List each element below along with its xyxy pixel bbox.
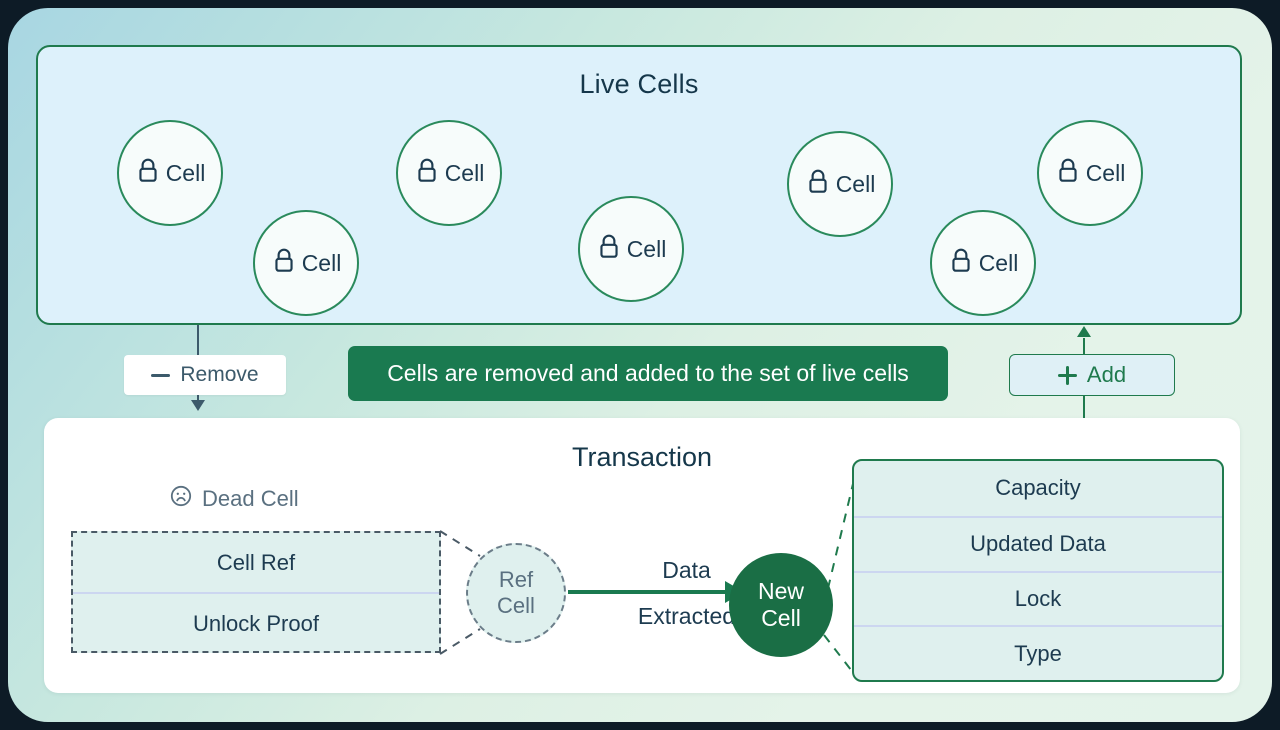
field-row: Capacity (854, 461, 1222, 516)
data-extracted-arrow-line (568, 590, 728, 594)
dead-cell-box: Cell Ref Unlock Proof (71, 531, 441, 653)
live-cell[interactable]: Cell (578, 196, 684, 302)
dead-cell-row: Cell Ref (73, 533, 439, 592)
live-cell-label: Cell (979, 250, 1019, 277)
live-cell-label: Cell (166, 160, 206, 187)
new-cell-line2: Cell (761, 605, 801, 632)
sad-face-icon (169, 484, 193, 514)
live-cell-label: Cell (627, 236, 667, 263)
add-button[interactable]: Add (1009, 354, 1175, 396)
live-cells-title: Live Cells (38, 69, 1240, 100)
minus-icon (151, 374, 170, 377)
new-cell-fields-panel: Capacity Updated Data Lock Type (852, 459, 1224, 682)
remove-button[interactable]: Remove (124, 355, 286, 395)
diagram-canvas: Live Cells Cell Cell (8, 8, 1272, 722)
ref-cell-line2: Cell (497, 593, 535, 619)
live-cell-label: Cell (302, 250, 342, 277)
live-cell[interactable]: Cell (253, 210, 359, 316)
remove-label: Remove (180, 363, 258, 387)
add-arrow-head (1077, 326, 1091, 337)
ref-cell-line1: Ref (499, 567, 533, 593)
remove-arrow-head (191, 400, 205, 411)
field-row: Lock (854, 571, 1222, 626)
dead-cell-row: Unlock Proof (73, 592, 439, 653)
lock-icon (948, 247, 974, 280)
lock-icon (271, 247, 297, 280)
live-cell-label: Cell (1086, 160, 1126, 187)
dead-cell-label: Dead Cell (169, 484, 299, 514)
lock-icon (414, 157, 440, 190)
ref-cell[interactable]: Ref Cell (466, 543, 566, 643)
flow-caption-banner: Cells are removed and added to the set o… (348, 346, 948, 401)
transaction-panel: Transaction Dead Cell Cell Ref Unlock Pr… (44, 418, 1240, 693)
plus-icon (1058, 366, 1077, 385)
live-cell[interactable]: Cell (396, 120, 502, 226)
live-cell[interactable]: Cell (117, 120, 223, 226)
dead-cell-text: Dead Cell (202, 486, 299, 512)
add-label: Add (1087, 362, 1126, 388)
lock-icon (805, 168, 831, 201)
field-row: Updated Data (854, 516, 1222, 571)
live-cells-panel: Live Cells Cell Cell (36, 45, 1242, 325)
new-cell[interactable]: New Cell (729, 553, 833, 657)
live-cell[interactable]: Cell (787, 131, 893, 237)
lock-icon (135, 157, 161, 190)
flow-caption-text: Cells are removed and added to the set o… (387, 360, 909, 387)
live-cell[interactable]: Cell (1037, 120, 1143, 226)
field-row: Type (854, 625, 1222, 680)
live-cell[interactable]: Cell (930, 210, 1036, 316)
live-cell-label: Cell (445, 160, 485, 187)
live-cell-label: Cell (836, 171, 876, 198)
lock-icon (1055, 157, 1081, 190)
new-cell-line1: New (758, 578, 804, 605)
lock-icon (596, 233, 622, 266)
